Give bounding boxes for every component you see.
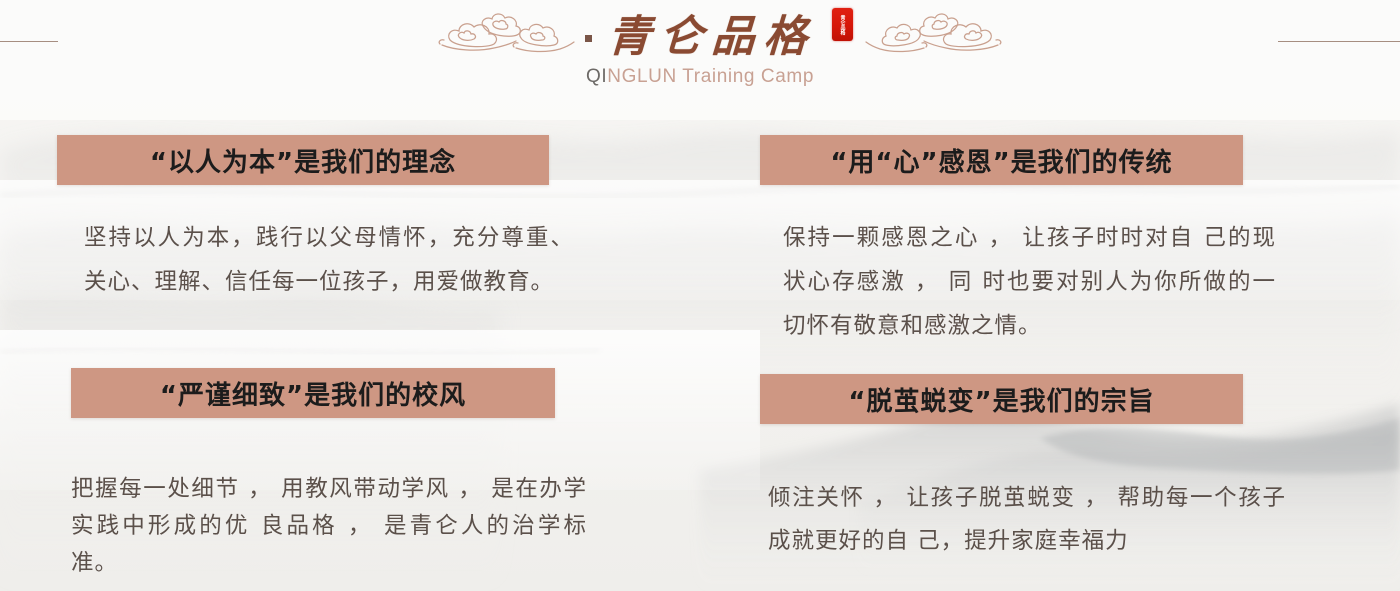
subtitle-rest: NGLUN Training Camp — [607, 66, 814, 87]
title-row: 青仑品格 — [0, 0, 1400, 62]
banner-purpose: “脱茧蜕变”是我们的宗旨 — [760, 374, 1243, 424]
seal-stamp-text: 青仑品格 — [840, 15, 846, 35]
page-subtitle: QINGLUN Training Camp — [0, 66, 1400, 88]
banner-philosophy: “以人为本”是我们的理念 — [57, 135, 549, 185]
body-text-purpose: 倾注关怀 ， 让孩子脱茧蜕变 ， 帮助每一个孩子成就更好的自 己，提升家庭幸福力 — [768, 477, 1286, 563]
body-text-philosophy: 坚持以人为本，践行以父母情怀，充分尊重、关心、理解、信任每一位孩子，用爱做教育。 — [84, 216, 574, 304]
body-text-tradition: 保持一颗感恩之心 ， 让孩子时时对自 己的现状心存感激 ， 同 时也要对别人为你… — [783, 216, 1276, 348]
red-seal-stamp-icon: 青仑品格 — [832, 8, 853, 41]
page-title: 青仑品格 — [606, 4, 817, 59]
body-text-school-spirit: 把握每一处细节 ， 用教风带动学风 ， 是在办学实践中形成的优 良品格 ， 是青… — [71, 471, 587, 582]
title-block: 青仑品格 QINGLUN Training Camp — [0, 0, 1400, 88]
banner-tradition: “用“心”感恩”是我们的传统 — [760, 135, 1243, 185]
title-bullet-icon — [585, 35, 592, 42]
page-header: 青仑品格 QINGLUN Training Camp 青仑品格 — [0, 0, 1400, 105]
banner-school-spirit: “严谨细致”是我们的校风 — [71, 368, 555, 418]
subtitle-prefix: QI — [586, 66, 607, 87]
